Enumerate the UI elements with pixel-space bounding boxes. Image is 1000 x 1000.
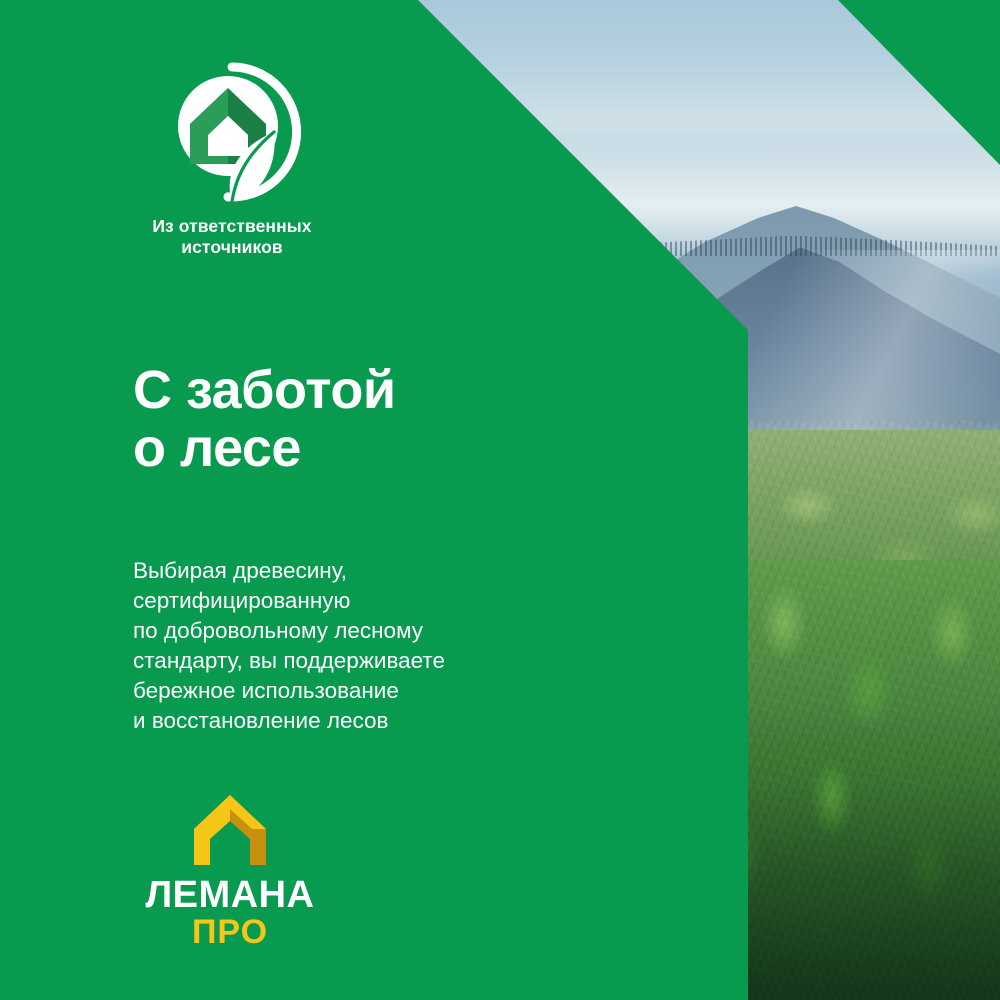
brand-suffix: ПРО [192,913,268,947]
badge-caption: Из ответственных источников [132,216,332,258]
brand-lockup: ЛЕМАНА ПРО [140,793,320,947]
headline: С заботой о лесе [133,362,396,478]
brand-name: ЛЕМАНА [146,874,315,916]
lemana-house-icon [192,793,268,867]
lemana-wordmark: ЛЕМАНА ПРО [140,873,320,947]
badge-caption-line1: Из ответственных [132,216,332,237]
responsible-sources-circle-house-leaf-icon [162,62,302,202]
badge-caption-line2: источников [132,237,332,258]
poster-content: Из ответственных источников С заботой о … [0,0,1000,1000]
certification-badge: Из ответственных источников [132,62,332,258]
body-copy: Выбирая древесину, сертифицированную по … [133,556,445,736]
poster-root: Из ответственных источников С заботой о … [0,0,1000,1000]
